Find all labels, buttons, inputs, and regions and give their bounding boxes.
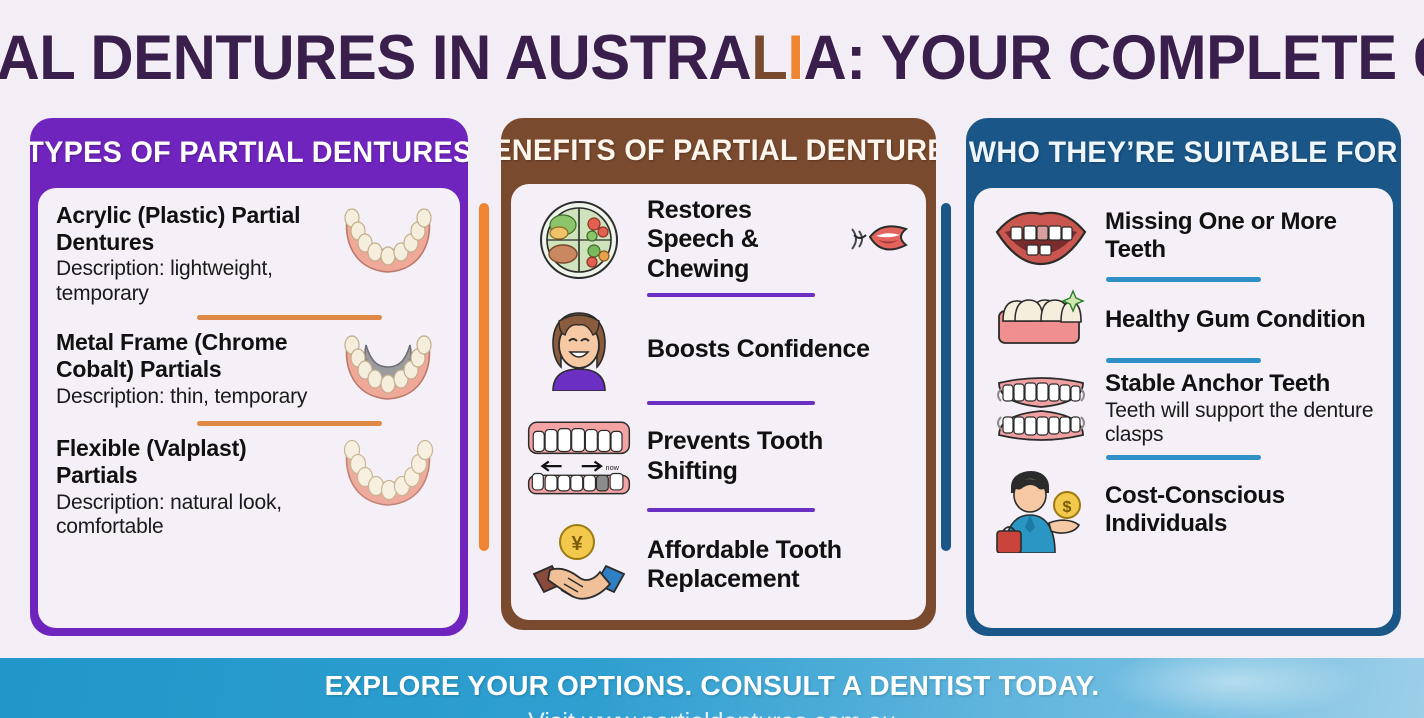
lower-denture-metal-frame-icon: [334, 329, 442, 412]
card-who-theyre-suitable-for: WHO THEY’RE SUITABLE FOR: [966, 118, 1401, 636]
cta-headline: EXPLORE YOUR OPTIONS. CONSULT A DENTIST …: [0, 670, 1424, 702]
list-item: Missing One or More Teeth: [988, 202, 1379, 270]
item-text: Acrylic (Plastic) Partial Dentures Descr…: [56, 202, 334, 306]
item-title: Cost-Conscious Individuals: [1105, 482, 1379, 538]
page-title-bar: PARTIAL DENTURES IN AUSTRALIA: YOUR COMP…: [0, 0, 1424, 110]
item-title: Stable Anchor Teeth: [1105, 370, 1379, 398]
list-item: Flexible (Valplast) Partials Description…: [56, 435, 442, 539]
page-title: PARTIAL DENTURES IN AUSTRALIA: YOUR COMP…: [0, 22, 1424, 94]
divider: [1106, 277, 1261, 282]
item-text: Flexible (Valplast) Partials Description…: [56, 435, 334, 539]
list-item: Metal Frame (Chrome Cobalt) Partials Des…: [56, 329, 442, 412]
list-item: Acrylic (Plastic) Partial Dentures Descr…: [56, 202, 442, 306]
card-header-benefits: BENEFITS OF PARTIAL DENTURES: [501, 118, 936, 184]
card-header-label: WHO THEY’RE SUITABLE FOR: [969, 136, 1398, 170]
svg-text:now: now: [606, 462, 620, 471]
item-label: Boosts Confidence: [647, 335, 912, 364]
healthy-gums-icon: [988, 289, 1093, 351]
shifting-teeth-icon: now: [525, 415, 633, 499]
item-title: Missing One or More Teeth: [1105, 208, 1379, 264]
smiling-woman-icon: [525, 307, 633, 391]
item-subtext: Teeth will support the denture clasps: [1105, 399, 1379, 448]
svg-text:¥: ¥: [571, 533, 583, 555]
item-text: Healthy Gum Condition: [1105, 306, 1379, 334]
item-description: Description: natural look, comfortable: [56, 491, 328, 540]
list-item: now Prevents Tooth Shifting: [525, 415, 912, 499]
person-coin-icon: $: [988, 467, 1093, 553]
item-description: Description: thin, temporary: [56, 385, 328, 410]
mouth-missing-teeth-icon: [988, 202, 1093, 270]
columns-container: TYPES OF PARTIAL DENTURES Acrylic (Plast…: [0, 118, 1424, 638]
item-title: Flexible (Valplast) Partials: [56, 435, 328, 488]
list-item: Boosts Confidence: [525, 307, 912, 391]
list-item: Restores Speech & Chewing: [525, 196, 912, 284]
item-text: Stable Anchor Teeth Teeth will support t…: [1105, 370, 1379, 448]
page-title-accent-i: I: [787, 23, 803, 93]
item-text: Missing One or More Teeth: [1105, 208, 1379, 264]
card-header-suitable: WHO THEY’RE SUITABLE FOR: [966, 118, 1401, 188]
divider: [197, 315, 382, 320]
divider: [647, 508, 815, 512]
item-text: Cost-Conscious Individuals: [1105, 482, 1379, 538]
item-label: Affordable Tooth Replacement: [647, 536, 912, 595]
item-title: Metal Frame (Chrome Cobalt) Partials: [56, 329, 328, 382]
talking-lips-icon: [850, 209, 912, 270]
divider: [647, 293, 815, 297]
card-header-label: TYPES OF PARTIAL DENTURES: [30, 136, 468, 170]
card-header-label: BENEFITS OF PARTIAL DENTURES: [501, 134, 936, 168]
svg-text:$: $: [1062, 499, 1071, 516]
cta-subtext: Visit www.partialdentures.com.au: [0, 708, 1424, 718]
divider: [647, 401, 815, 405]
vertical-accent-bar-orange: [479, 203, 489, 551]
full-teeth-clasps-icon: [988, 373, 1093, 445]
item-label: Prevents Tooth Shifting: [647, 427, 912, 486]
handshake-coin-icon: ¥: [525, 522, 633, 608]
list-item: $ Cost-Conscious Individuals: [988, 467, 1379, 553]
list-item: Healthy Gum Condition: [988, 289, 1379, 351]
item-description: Description: lightweight, temporary: [56, 257, 328, 306]
card-body-suitable: Missing One or More Teeth: [974, 188, 1393, 628]
card-body-types: Acrylic (Plastic) Partial Dentures Descr…: [38, 188, 460, 628]
card-types-of-partial-dentures: TYPES OF PARTIAL DENTURES Acrylic (Plast…: [30, 118, 468, 636]
lower-denture-acrylic-icon: [334, 202, 442, 285]
item-label: Restores Speech & Chewing: [647, 196, 836, 284]
card-benefits-of-partial-dentures: BENEFITS OF PARTIAL DENTURES: [501, 118, 936, 630]
list-item: Stable Anchor Teeth Teeth will support t…: [988, 370, 1379, 448]
divider: [1106, 358, 1261, 363]
food-plate-icon: [525, 198, 633, 282]
card-header-types: TYPES OF PARTIAL DENTURES: [30, 118, 468, 188]
divider: [1106, 455, 1261, 460]
card-body-benefits: Restores Speech & Chewing: [511, 184, 926, 620]
list-item: ¥ Affordable Tooth Replacement: [525, 522, 912, 608]
call-to-action-banner: EXPLORE YOUR OPTIONS. CONSULT A DENTIST …: [0, 658, 1424, 718]
lower-denture-flexible-icon: [334, 435, 442, 518]
page-title-part1: PARTIAL DENTURES IN AUSTRA: [0, 23, 751, 93]
item-title: Healthy Gum Condition: [1105, 306, 1379, 334]
item-title: Acrylic (Plastic) Partial Dentures: [56, 202, 328, 255]
vertical-accent-bar-blue: [941, 203, 951, 551]
page-title-part2: A: YOUR COMPLETE GUIDE: [804, 23, 1424, 93]
item-text: Metal Frame (Chrome Cobalt) Partials Des…: [56, 329, 334, 409]
page-title-accent-l: L: [751, 23, 787, 93]
divider: [197, 421, 382, 426]
